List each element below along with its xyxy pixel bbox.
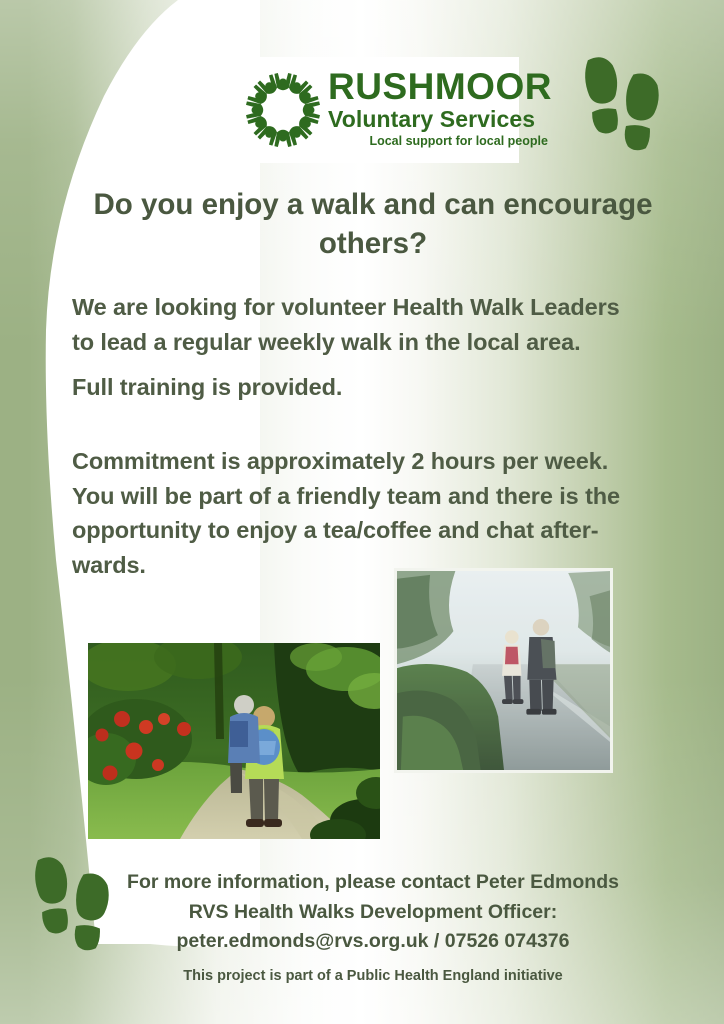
commitment-line-1: Commitment is approximately 2 hours per … <box>72 444 696 479</box>
intro-paragraph: We are looking for volunteer Health Walk… <box>72 290 694 405</box>
logo-line-rushmoor: RUSHMOOR <box>328 69 552 105</box>
contact-line-2: RVS Health Walks Development Officer: <box>62 898 684 928</box>
photo-misty-road-walkers <box>394 568 613 773</box>
commitment-line-3: opportunity to enjoy a tea/coffee and ch… <box>72 513 696 548</box>
logo-tagline: Local support for local people <box>369 132 552 151</box>
logo-wordmark: RUSHMOOR Voluntary Services Local suppor… <box>326 69 552 150</box>
logo-line-voluntary-services: Voluntary Services <box>328 106 535 132</box>
intro-line-1: We are looking for volunteer Health Walk… <box>72 290 694 325</box>
intro-line-3: Full training is provided. <box>72 370 694 405</box>
paragraph-spacer <box>72 359 694 370</box>
shoe-prints-icon-top-right <box>578 48 674 152</box>
contact-line-3-email-phone: peter.edmonds@rvs.org.uk / 07526 074376 <box>62 927 684 957</box>
photo-woodland-path-walkers <box>88 643 380 839</box>
commitment-line-2: You will be part of a friendly team and … <box>72 479 696 514</box>
commitment-paragraph: Commitment is approximately 2 hours per … <box>72 444 696 582</box>
rushmoor-voluntary-services-logo: RUSHMOOR Voluntary Services Local suppor… <box>236 57 519 163</box>
poster-headline: Do you enjoy a walk and can encourage ot… <box>62 186 684 264</box>
contact-block: For more information, please contact Pet… <box>62 868 684 957</box>
footer-note: This project is part of a Public Health … <box>62 968 684 984</box>
rushmoor-people-circle-logo-icon <box>240 64 326 156</box>
intro-line-2: to lead a regular weekly walk in the loc… <box>72 325 694 360</box>
contact-line-1: For more information, please contact Pet… <box>62 868 684 898</box>
poster-canvas: RUSHMOOR Voluntary Services Local suppor… <box>0 0 724 1024</box>
